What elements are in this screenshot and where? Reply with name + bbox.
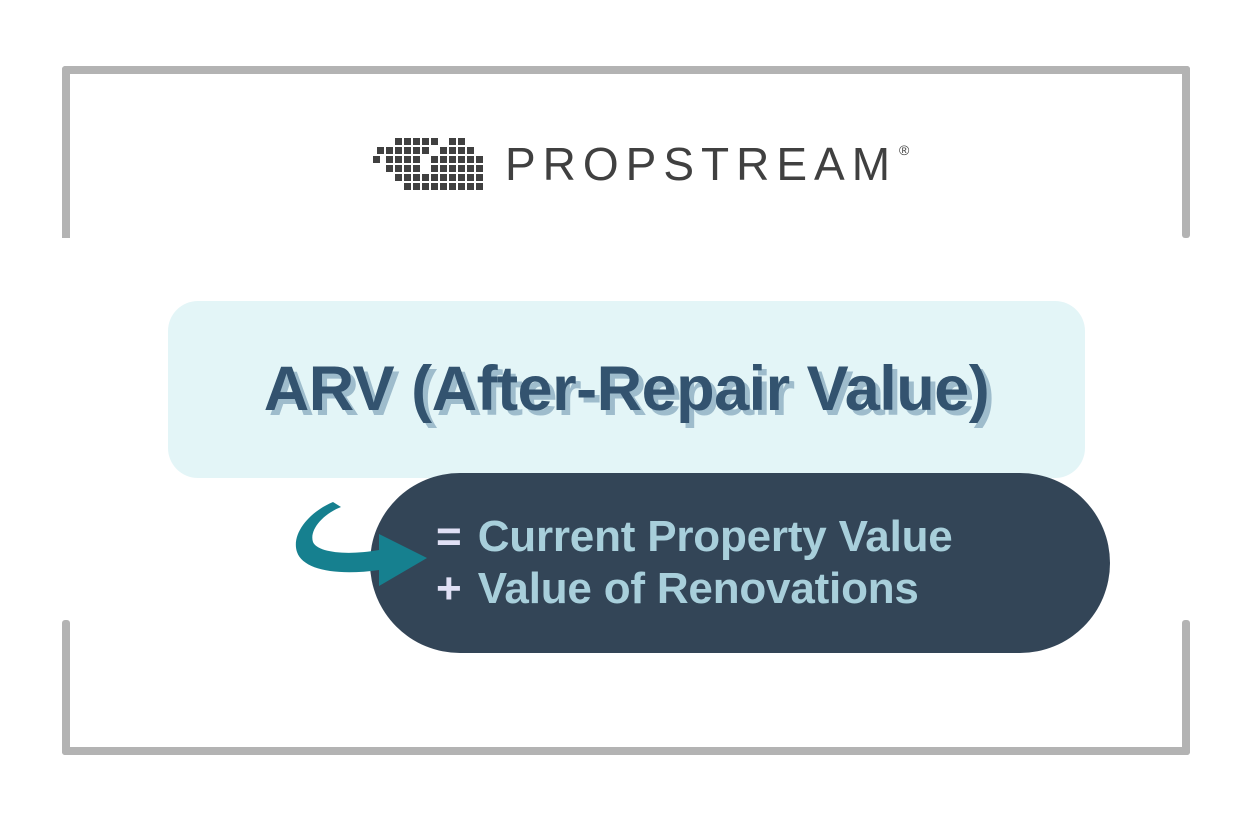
curved-arrow-icon	[275, 490, 455, 610]
frame-corner-top-right	[1182, 66, 1190, 238]
brand-wordmark-text: PROPSTREAM	[505, 141, 897, 187]
frame-corner-top-left	[62, 66, 172, 238]
formula-line: = Current Property Value	[436, 511, 953, 563]
frame-corner-bottom-right	[1182, 620, 1190, 755]
frame-top-line	[62, 66, 1190, 74]
title-card: ARV (After-Repair Value)	[168, 301, 1085, 478]
formula-term: Current Property Value	[478, 511, 953, 563]
registered-trademark-icon: ®	[899, 143, 909, 157]
brand-logo: PROPSTREAM ®	[373, 138, 907, 190]
formula-line: + Value of Renovations	[436, 563, 919, 615]
frame-bottom-line	[62, 747, 1190, 755]
brand-wordmark: PROPSTREAM ®	[505, 141, 907, 187]
formula-card: = Current Property Value + Value of Reno…	[370, 473, 1110, 653]
propstream-pixel-house-logo-icon	[373, 138, 483, 190]
page-title: ARV (After-Repair Value)	[264, 358, 990, 421]
frame-corner-bottom-left	[62, 620, 70, 755]
slide-canvas: PROPSTREAM ® ARV (After-Repair Value) = …	[0, 0, 1252, 834]
formula-term: Value of Renovations	[478, 563, 919, 615]
